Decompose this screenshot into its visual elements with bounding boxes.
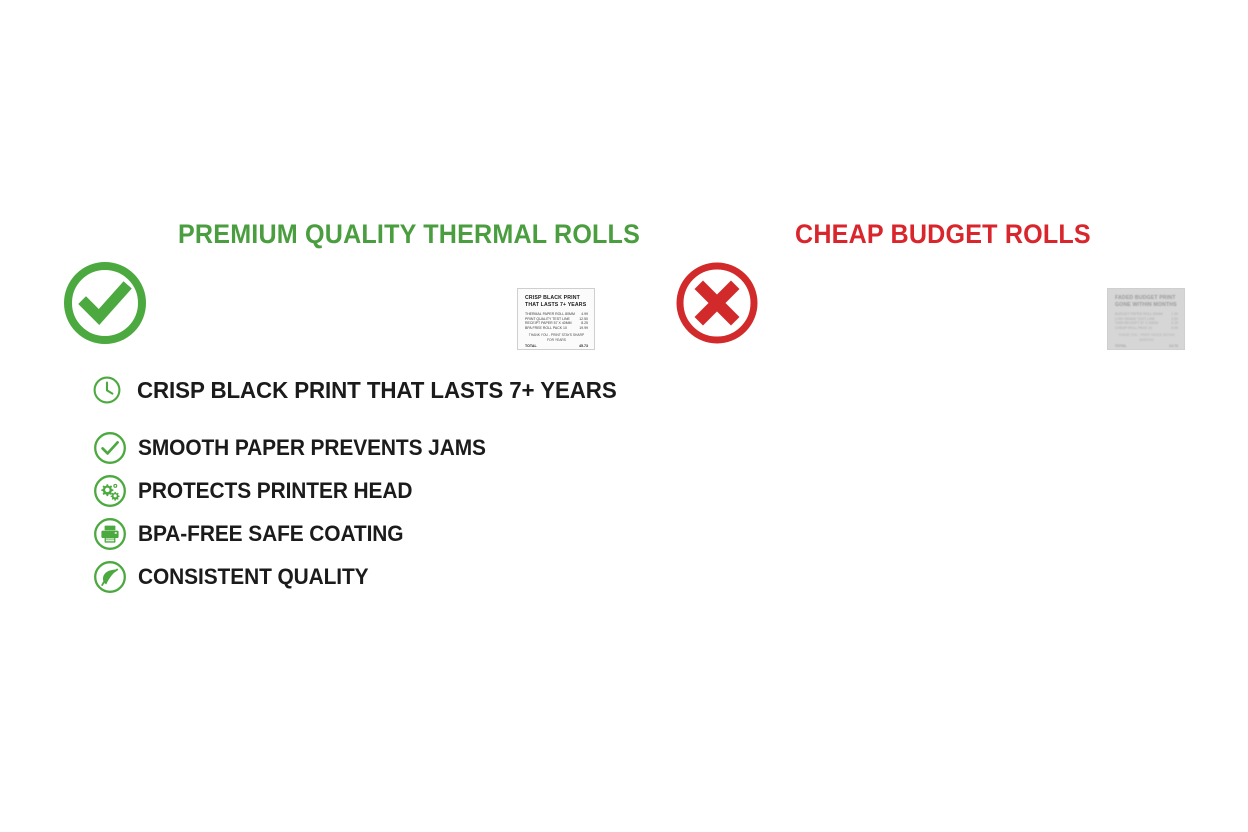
check-circle-icon	[92, 430, 128, 466]
clock-icon	[92, 375, 122, 405]
list-item-label: BPA-FREE SAFE COATING	[138, 521, 403, 547]
list-item: PROTECTS PRINTER HEAD	[92, 472, 642, 510]
premium-benefit-list: CRISP BLACK PRINT THAT LASTS 7+ YEARS SM…	[92, 371, 642, 601]
list-item-label: CRISP BLACK PRINT THAT LASTS 7+ YEARS	[137, 377, 617, 404]
premium-heading: PREMIUM QUALITY THERMAL ROLLS	[178, 219, 640, 250]
receipt-footer: THANK YOU - PRINT FADES WITHIN MONTHS	[1115, 333, 1178, 342]
list-item: CRISP BLACK PRINT THAT LASTS 7+ YEARS	[92, 371, 642, 409]
printer-icon	[92, 516, 128, 552]
receipt-total-label: TOTAL	[525, 344, 537, 348]
receipt-headline-line2: GONE WITHIN MONTHS	[1115, 302, 1178, 309]
receipt-thumbnail-crisp: CRISP BLACK PRINT THAT LASTS 7+ YEARS TH…	[517, 288, 595, 350]
receipt-row: BPA FREE ROLL PACK 10 19.99	[525, 326, 588, 331]
check-circle-icon	[62, 260, 148, 346]
gears-icon	[92, 473, 128, 509]
receipt-total: TOTAL 45.73	[525, 344, 588, 348]
receipt-row-label: BPA FREE ROLL PACK 10	[525, 326, 567, 331]
receipt-line-items: BUDGET PAPER ROLL 80MM 1.99 LOW GRADE TE…	[1115, 312, 1178, 330]
list-item: SMOOTH PAPER PREVENTS JAMS	[92, 429, 642, 467]
list-item: BPA-FREE SAFE COATING	[92, 515, 642, 553]
receipt-total-value: 14.73	[1169, 344, 1178, 348]
receipt-total-value: 45.73	[579, 344, 588, 348]
receipt-headline-line1: CRISP BLACK PRINT	[525, 295, 588, 302]
receipt-footer: THANK YOU - PRINT STAYS SHARP FOR YEARS	[525, 333, 588, 342]
receipt-row-value: 19.99	[579, 326, 588, 331]
column-premium: PREMIUM QUALITY THERMAL ROLLS CRISP BLAC…	[0, 0, 624, 832]
receipt-line-items: THERMAL PAPER ROLL 80MM 4.99 PRINT QUALI…	[525, 312, 588, 330]
cheap-heading: CHEAP BUDGET ROLLS	[795, 219, 1091, 250]
receipt-total: TOTAL 14.73	[1115, 344, 1178, 348]
list-item: CONSISTENT QUALITY	[92, 558, 642, 596]
infographic-canvas: PREMIUM QUALITY THERMAL ROLLS CRISP BLAC…	[0, 0, 1248, 832]
receipt-headline-line1: FADED BUDGET PRINT	[1115, 295, 1178, 302]
leaf-icon	[92, 559, 128, 595]
list-item-label: PROTECTS PRINTER HEAD	[138, 478, 412, 504]
list-item-label: CONSISTENT QUALITY	[138, 564, 369, 590]
receipt-row-value: 6.99	[1171, 326, 1178, 331]
receipt-headline-line2: THAT LASTS 7+ YEARS	[525, 302, 588, 309]
list-item-label: SMOOTH PAPER PREVENTS JAMS	[138, 435, 486, 461]
receipt-total-label: TOTAL	[1115, 344, 1127, 348]
column-cheap: CHEAP BUDGET ROLLS FADED BUDGET PRINT GO…	[624, 0, 1248, 832]
x-circle-icon	[674, 260, 760, 346]
receipt-thumbnail-faded: FADED BUDGET PRINT GONE WITHIN MONTHS BU…	[1107, 288, 1185, 350]
receipt-row: CHEAP ROLL PACK 10 6.99	[1115, 326, 1178, 331]
receipt-row-label: CHEAP ROLL PACK 10	[1115, 326, 1152, 331]
